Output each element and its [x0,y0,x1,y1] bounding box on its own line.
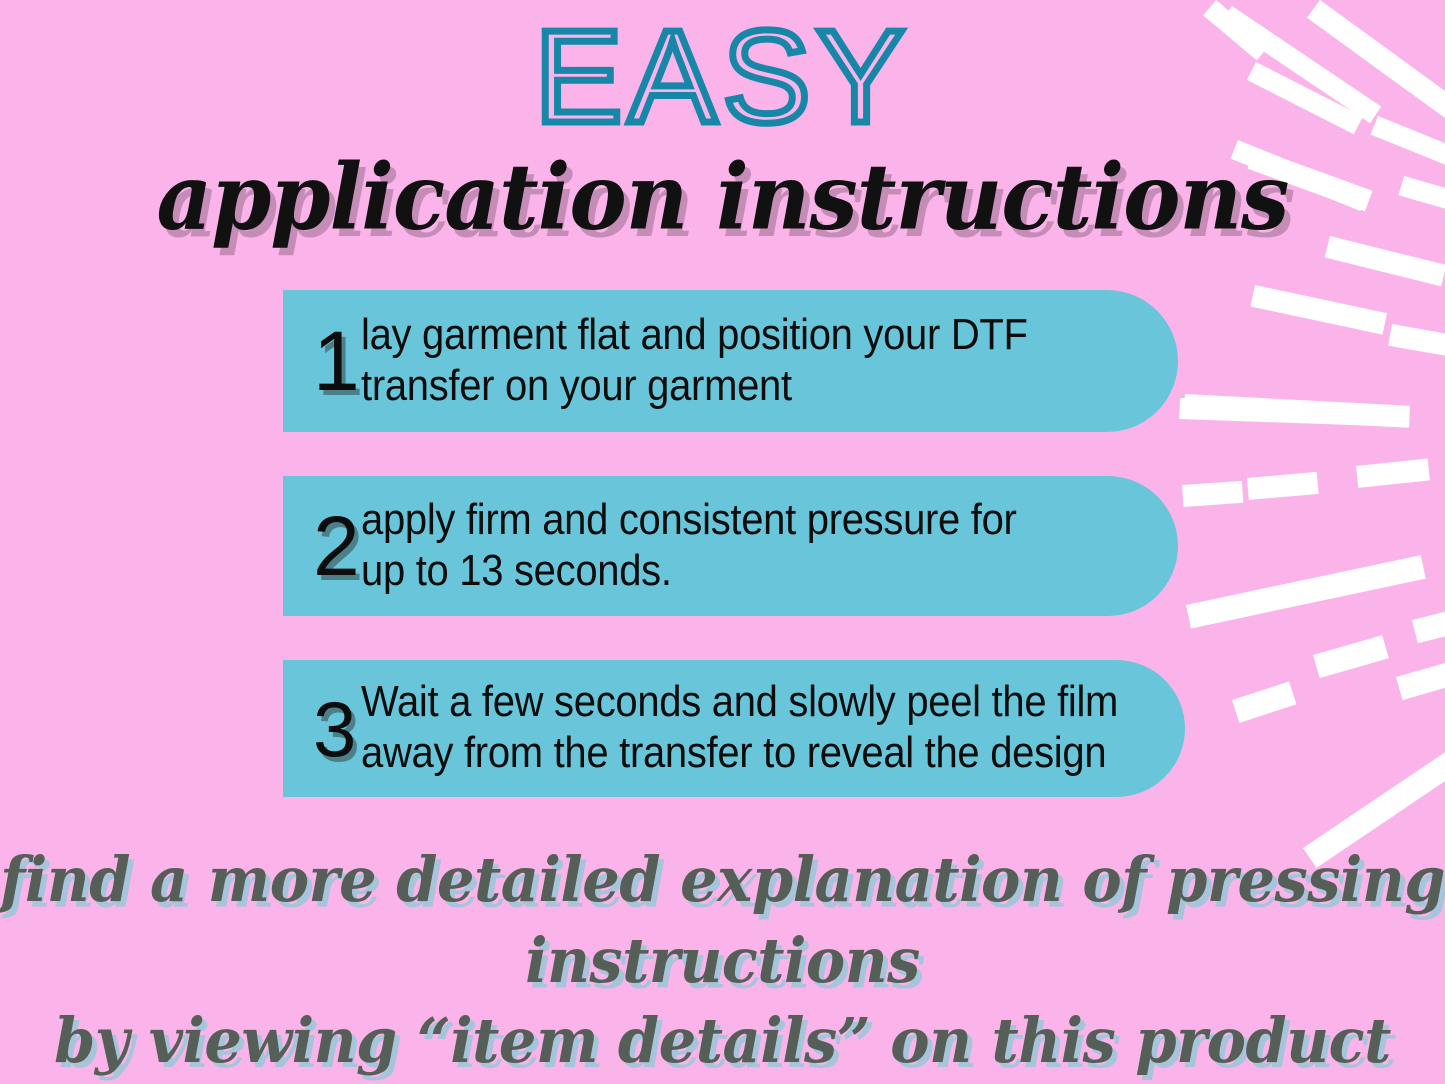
step-item-1: 1 lay garment flat and position your DTF… [283,290,1178,432]
footer-line-2: by viewing “item details” on this produc… [0,1001,1445,1084]
step-text-1-line-1: lay garment flat and position your DTF [361,310,1178,361]
page-subtitle-script: application instructions [0,152,1445,243]
step-number-1: 1 [283,319,361,403]
step-text-1-line-2: transfer on your garment [361,361,1178,412]
footer-note: find a more detailed explanation of pres… [0,840,1445,1084]
step-item-3: 3 Wait a few seconds and slowly peel the… [283,660,1185,797]
step-text-1: lay garment flat and position your DTF t… [361,310,1178,412]
step-text-3: Wait a few seconds and slowly peel the f… [361,678,1185,780]
footer-line-1: find a more detailed explanation of pres… [0,840,1445,1001]
page-title-easy-outline: EASY [534,3,910,150]
step-number-3: 3 [283,690,361,768]
step-text-3-line-2: away from the transfer to reveal the des… [361,729,1185,780]
step-text-3-line-1: Wait a few seconds and slowly peel the f… [361,678,1185,729]
step-item-2: 2 apply firm and consistent pressure for… [283,476,1178,616]
step-text-2-line-2: up to 13 seconds. [361,546,1178,597]
step-text-2: apply firm and consistent pressure for u… [361,495,1178,597]
step-number-2: 2 [283,504,361,588]
instruction-graphic-canvas: EASY EASY application instructions 1 lay… [0,0,1445,1084]
step-text-2-line-1: apply firm and consistent pressure for [361,495,1178,546]
page-title-easy: EASY EASY [0,8,1445,147]
